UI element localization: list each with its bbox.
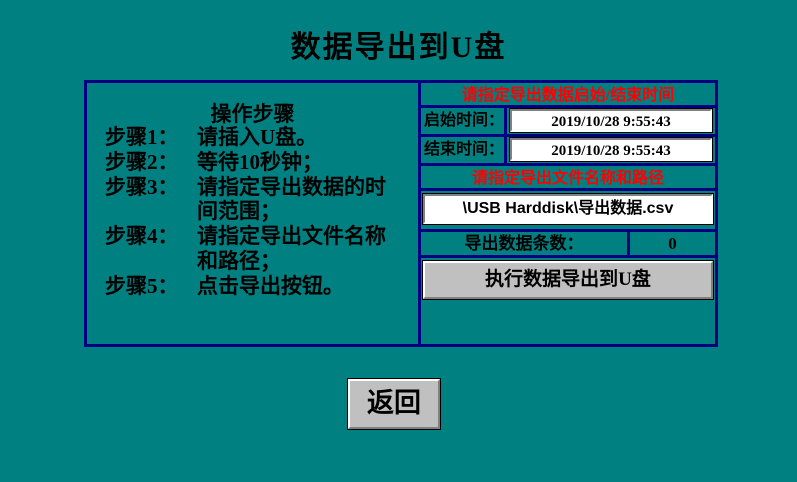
instructions-panel: 操作步骤 步骤1： 请插入U盘。 步骤2： 等待10秒钟； 步骤3： 请指定导出… [87,83,421,344]
instruction-step: 步骤4： 请指定导出文件名称 [87,224,418,249]
step-label: 步骤2： [105,150,197,175]
instruction-step-continuation: 和路径； [87,249,418,274]
return-button[interactable]: 返回 [348,379,440,429]
step-label: 步骤1： [105,125,197,150]
export-count-value: 0 [630,232,715,255]
start-time-input[interactable]: 2019/10/28 9:55:43 [510,109,712,132]
step-text: 和路径； [197,249,418,274]
end-time-label: 结束时间： [421,137,507,163]
step-text: 请指定导出数据的时 [197,175,418,200]
step-text: 点击导出按钮。 [197,274,418,299]
file-section-header: 请指定导出文件名称和路径 [421,166,715,191]
page-title: 数据导出到U盘 [0,22,797,66]
file-path-input[interactable]: \USB Harddisk\导出数据.csv [423,194,713,224]
instruction-step: 步骤2： 等待10秒钟； [87,150,418,175]
instruction-step: 步骤3： 请指定导出数据的时 [87,175,418,200]
form-panel: 请指定导出数据启始/结束时间 启始时间： 2019/10/28 9:55:43 … [421,83,715,344]
end-time-row: 结束时间： 2019/10/28 9:55:43 [421,137,715,166]
step-text: 请插入U盘。 [197,125,418,150]
step-label: 步骤3： [105,175,197,200]
instruction-step-continuation: 间范围； [87,199,418,224]
export-count-label: 导出数据条数： [421,232,630,255]
export-count-row: 导出数据条数： 0 [421,229,715,258]
step-label: 步骤5： [105,274,197,299]
step-text: 间范围； [197,199,418,224]
end-time-input[interactable]: 2019/10/28 9:55:43 [510,138,712,161]
instruction-step: 步骤5： 点击导出按钮。 [87,274,418,299]
main-panel: 操作步骤 步骤1： 请插入U盘。 步骤2： 等待10秒钟； 步骤3： 请指定导出… [84,80,718,347]
step-label [105,199,197,224]
time-section-header: 请指定导出数据启始/结束时间 [421,83,715,108]
instruction-step: 步骤1： 请插入U盘。 [87,125,418,150]
step-label: 步骤4： [105,224,197,249]
start-time-row: 启始时间： 2019/10/28 9:55:43 [421,108,715,137]
instructions-heading: 操作步骤 [87,104,418,125]
start-time-label: 启始时间： [421,108,507,134]
step-text: 请指定导出文件名称 [197,224,418,249]
step-label [105,249,197,274]
export-to-usb-button[interactable]: 执行数据导出到U盘 [423,261,713,299]
step-text: 等待10秒钟； [197,150,418,175]
